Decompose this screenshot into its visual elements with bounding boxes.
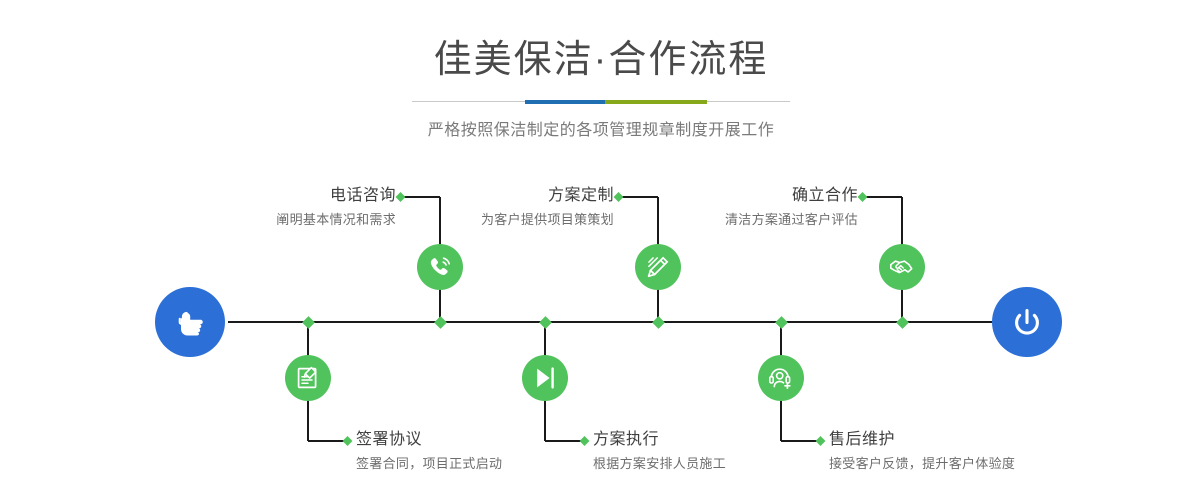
pointing-hand-icon [170,302,210,342]
step-icon-play-execute[interactable] [522,355,568,401]
branch-marker-bottom-2 [580,436,590,446]
step-label-top-3: 确立合作 清洁方案通过客户评估 [725,186,858,230]
step-title: 电话咨询 [276,186,396,206]
step-title: 售后维护 [829,430,1015,450]
step-icon-document-edit[interactable] [285,355,331,401]
branch-marker-top-1 [396,192,406,202]
step-desc: 清洁方案通过客户评估 [725,210,858,230]
step-desc: 阐明基本情况和需求 [276,210,396,230]
step-desc: 根据方案安排人员施工 [593,454,726,474]
step-desc: 接受客户反馈，提升客户体验度 [829,454,1015,474]
spine-diamond-3 [539,316,552,329]
step-icon-phone-call[interactable] [417,244,463,290]
phone-call-icon [426,253,454,281]
branch-marker-top-2 [614,192,624,202]
step-label-top-1: 电话咨询 阐明基本情况和需求 [276,186,396,230]
play-execute-icon [531,364,559,392]
pencil-edit-icon [644,253,672,281]
spine-diamond-4 [652,316,665,329]
step-title: 方案执行 [593,430,726,450]
step-label-top-2: 方案定制 为客户提供项目策策划 [481,186,614,230]
step-desc: 签署合同，项目正式启动 [356,454,502,474]
step-title: 签署协议 [356,430,502,450]
handshake-icon [888,253,916,281]
flow-start-node[interactable] [155,287,225,357]
step-title: 确立合作 [725,186,858,206]
infographic-canvas: 佳美保洁·合作流程 严格按照保洁制定的各项管理规章制度开展工作 [0,0,1202,502]
step-label-bottom-2: 方案执行 根据方案安排人员施工 [593,430,726,474]
document-edit-icon [294,364,322,392]
step-icon-customer-support[interactable] [758,355,804,401]
step-desc: 为客户提供项目策策划 [481,210,614,230]
step-label-bottom-1: 签署协议 签署合同，项目正式启动 [356,430,502,474]
spine-diamond-1 [302,316,315,329]
flow-end-node[interactable] [992,287,1062,357]
step-icon-pencil-edit[interactable] [635,244,681,290]
step-label-bottom-3: 售后维护 接受客户反馈，提升客户体验度 [829,430,1015,474]
branch-marker-top-3 [858,192,868,202]
spine-diamond-2 [434,316,447,329]
power-icon [1007,302,1047,342]
spine-diamond-6 [896,316,909,329]
spine-diamond-5 [775,316,788,329]
step-title: 方案定制 [481,186,614,206]
branch-marker-bottom-1 [343,436,353,446]
flow-connector-lines [0,0,1202,502]
step-icon-handshake[interactable] [879,244,925,290]
branch-marker-bottom-3 [816,436,826,446]
customer-support-icon [767,364,795,392]
